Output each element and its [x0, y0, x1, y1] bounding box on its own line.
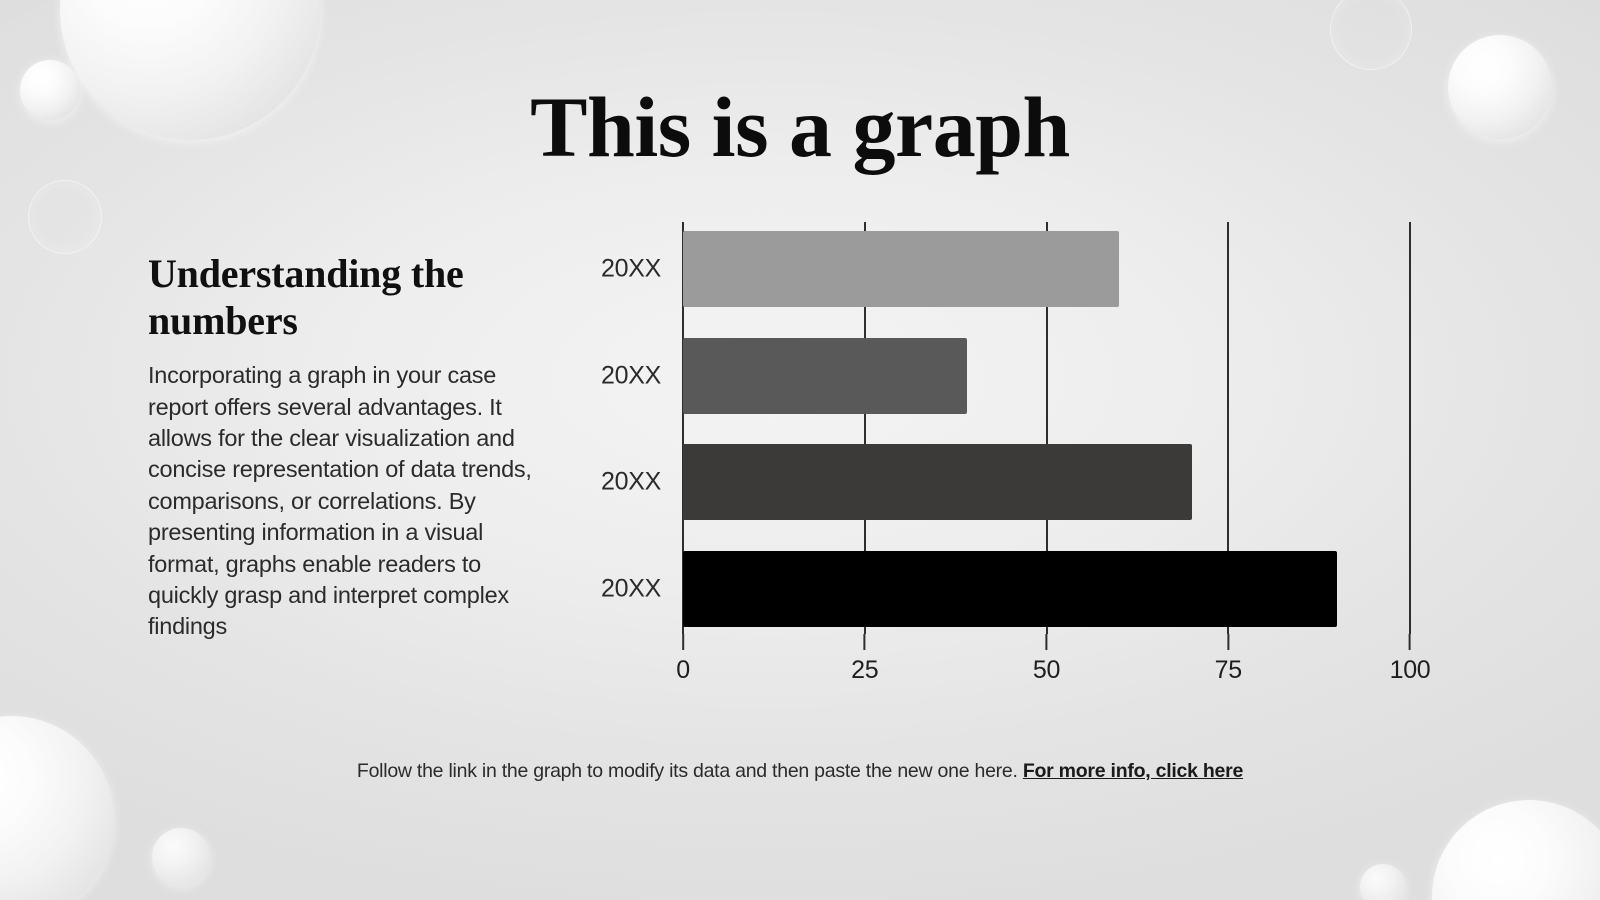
x-tick-mark — [1227, 634, 1229, 650]
x-tick-label: 0 — [676, 656, 690, 685]
x-tick-75: 75 — [1215, 634, 1242, 685]
footer-text: Follow the link in the graph to modify i… — [357, 760, 1023, 782]
bar-row: 20XX — [683, 444, 1410, 520]
text-column: Understanding the numbers Incorporating … — [148, 250, 540, 643]
x-tick-mark — [1046, 634, 1048, 650]
bar-category-label: 20XX — [601, 574, 661, 603]
slide-canvas: This is a graph Understanding the number… — [0, 0, 1600, 900]
bar-category-label: 20XX — [601, 468, 661, 497]
x-tick-mark — [864, 634, 866, 650]
sphere-top-right-ring — [1330, 0, 1412, 70]
page-title: This is a graph — [0, 82, 1600, 172]
sphere-bottom-right-small — [1360, 864, 1406, 900]
x-tick-25: 25 — [851, 634, 878, 685]
bar-series-1 — [683, 231, 1119, 307]
chart-x-axis: 0255075100 — [683, 634, 1410, 690]
section-body-text: Incorporating a graph in your case repor… — [148, 360, 533, 642]
bar-series-4 — [683, 551, 1337, 627]
sphere-bottom-right-large — [1432, 800, 1600, 900]
sphere-bottom-left-large — [0, 716, 114, 900]
sphere-top-left-ring — [28, 180, 102, 254]
x-tick-label: 50 — [1033, 656, 1060, 685]
x-tick-50: 50 — [1033, 634, 1060, 685]
x-tick-0: 0 — [676, 634, 690, 685]
bar-row: 20XX — [683, 551, 1410, 627]
chart-bars: 20XX20XX20XX20XX — [683, 222, 1410, 634]
bar-series-3 — [683, 444, 1192, 520]
bar-category-label: 20XX — [601, 361, 661, 390]
bar-row: 20XX — [683, 338, 1410, 414]
x-tick-100: 100 — [1390, 634, 1431, 685]
bar-chart[interactable]: 20XX20XX20XX20XX 0255075100 — [595, 222, 1475, 692]
bar-row: 20XX — [683, 231, 1410, 307]
x-tick-label: 25 — [851, 656, 878, 685]
more-info-link[interactable]: For more info, click here — [1023, 760, 1243, 782]
chart-plot-area: 20XX20XX20XX20XX — [683, 222, 1410, 634]
x-tick-mark — [682, 634, 684, 650]
section-subheading: Understanding the numbers — [148, 250, 498, 344]
x-tick-label: 75 — [1215, 656, 1242, 685]
x-tick-mark — [1409, 634, 1411, 650]
sphere-bottom-left-small — [152, 828, 210, 886]
x-tick-label: 100 — [1390, 656, 1431, 685]
footer-note: Follow the link in the graph to modify i… — [0, 760, 1600, 783]
bar-series-2 — [683, 338, 967, 414]
bar-category-label: 20XX — [601, 255, 661, 284]
